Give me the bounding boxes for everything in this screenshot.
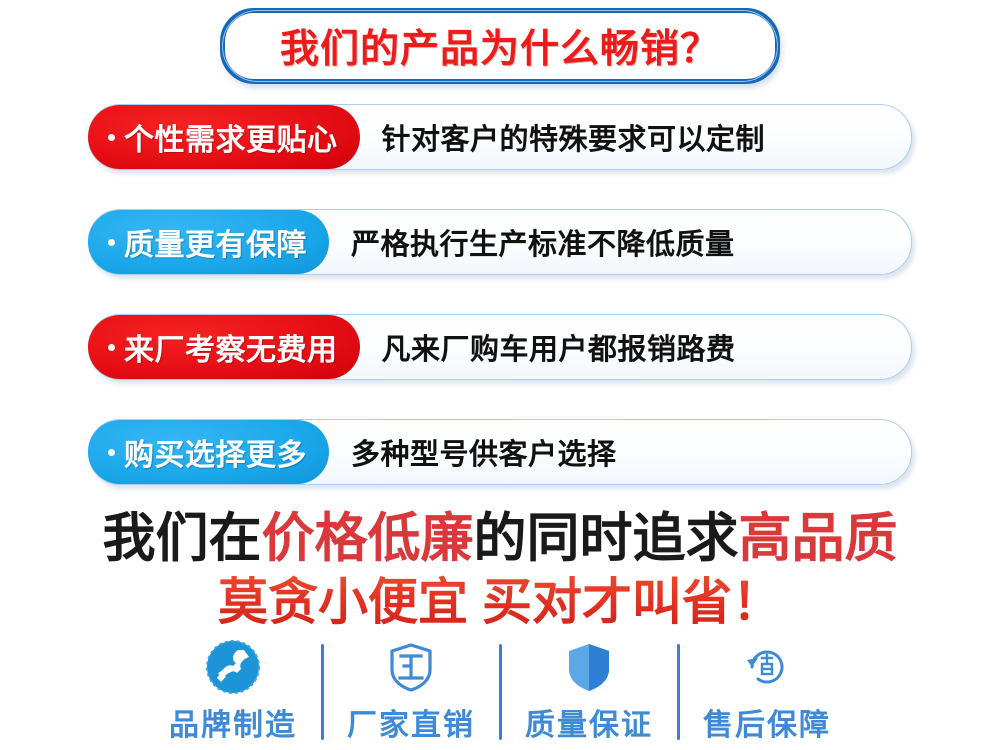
tagline-part-3: 的同时追求 [474,509,739,568]
feature-description: 严格执行生产标准不降低质量 [351,221,735,263]
page-title: 我们的产品为什么畅销？ [280,18,720,74]
trust-badge-bar: 品牌制造 厂家直销 质量保证 [0,636,1000,744]
tagline-primary: 我们在价格低廉的同时追求高品质 [0,496,1000,572]
feature-tag-label: 质量更有保障 [124,220,307,264]
feature-row: 个性需求更贴心 针对客户的特殊要求可以定制 [88,104,912,170]
feature-tag-pill-4: 购买选择更多 [88,420,329,484]
bullet-dot-icon [108,134,115,141]
shield-filled-icon [560,636,618,698]
badge-quality-guarantee: 质量保证 [502,636,677,744]
feature-row: 质量更有保障 严格执行生产标准不降低质量 [88,209,912,275]
feature-row: 来厂考察无费用 凡来厂购车用户都报销路费 [88,314,912,380]
bullet-dot-icon [108,449,115,456]
feature-description: 凡来厂购车用户都报销路费 [382,326,736,368]
feature-tag-label: 来厂考察无费用 [124,325,338,369]
tagline-part-1: 我们在 [103,509,262,568]
badge-label: 品牌制造 [169,700,297,744]
badge-label: 售后保障 [703,700,831,744]
tagline-part-2-highlight: 价格低廉 [262,509,474,568]
feature-list: 个性需求更贴心 针对客户的特殊要求可以定制 质量更有保障 严格执行生产标准不降低… [0,104,1000,524]
feature-tag-pill-2: 质量更有保障 [88,210,329,274]
header: 我们的产品为什么畅销？ [0,8,1000,84]
badge-factory-direct: 厂家直销 [324,636,499,744]
feature-tag-pill-1: 个性需求更贴心 [88,105,360,169]
tagline-part-4-highlight: 高品质 [739,509,898,568]
feature-tag-pill-3: 来厂考察无费用 [88,315,360,379]
shield-zheng-icon [382,636,440,698]
feature-description: 针对客户的特殊要求可以定制 [382,116,766,158]
bullet-dot-icon [108,344,115,351]
globe-wrench-icon [204,636,262,698]
refresh-shou-icon [738,636,796,698]
badge-label: 厂家直销 [347,700,475,744]
feature-description: 多种型号供客户选择 [351,431,617,473]
bullet-dot-icon [108,239,115,246]
feature-tag-label: 购买选择更多 [124,430,307,474]
tagline-secondary: 莫贪小便宜 买对才叫省！ [0,562,1000,634]
feature-tag-label: 个性需求更贴心 [124,115,338,159]
title-pill: 我们的产品为什么畅销？ [220,8,780,84]
badge-label: 质量保证 [525,700,653,744]
badge-brand-manufacturing: 品牌制造 [146,636,321,744]
feature-row: 购买选择更多 多种型号供客户选择 [88,419,912,485]
badge-after-sales-support: 售后保障 [680,636,855,744]
